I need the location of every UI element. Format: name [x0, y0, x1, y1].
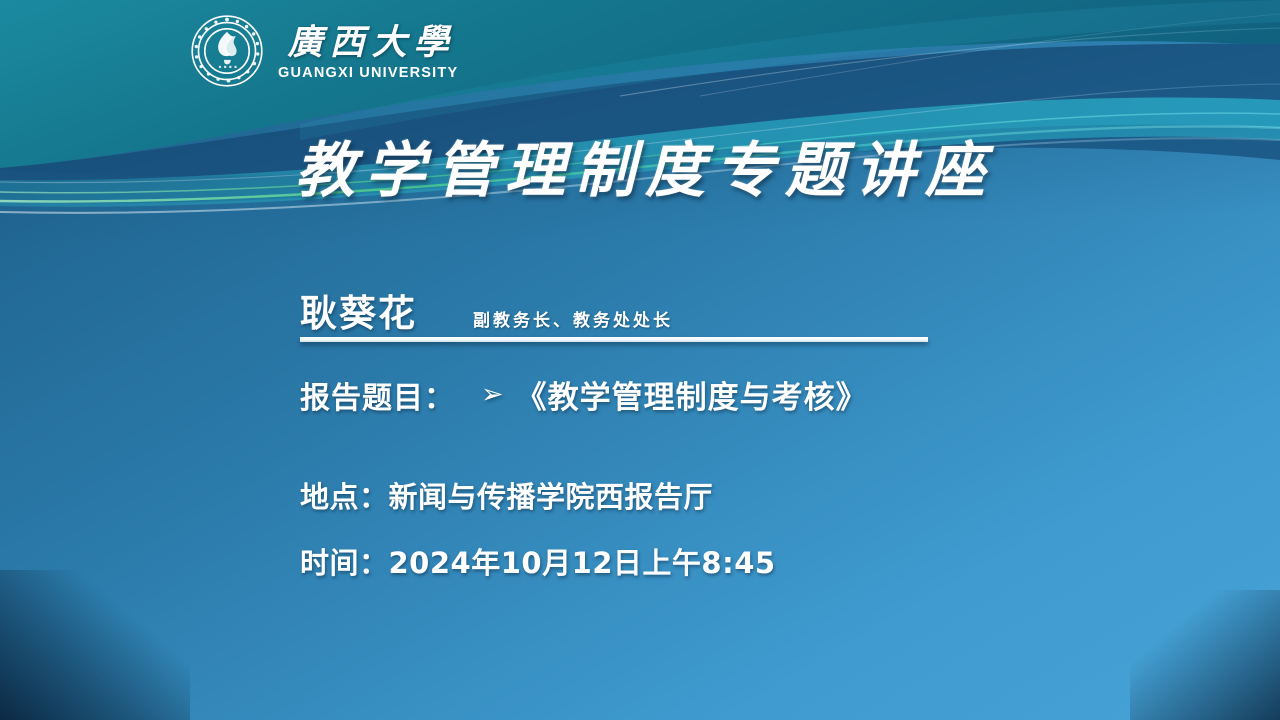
time-line: 时间：2024年10月12日上午8:45: [300, 540, 776, 582]
topic-line: 报告题目： ➢ 《教学管理制度与考核》: [300, 372, 868, 417]
speaker-row: 耿葵花 副教务长、教务处处长: [300, 283, 928, 337]
speaker-name: 耿葵花: [300, 283, 417, 337]
university-seal-icon: [190, 14, 264, 88]
title-container: 教学管理制度专题讲座: [0, 140, 1280, 203]
university-logo: 廣西大學 GUANGXI UNIVERSITY: [190, 14, 458, 88]
speaker-role: 副教务长、教务处处长: [473, 306, 673, 331]
arrow-bullet-icon: ➢: [481, 381, 504, 408]
corner-accent-bottom-right: [1130, 590, 1280, 720]
topic-label: 报告题目：: [300, 373, 455, 417]
page-title: 教学管理制度专题讲座: [0, 140, 1280, 203]
corner-accent-bottom-left: [0, 570, 190, 720]
topic-value: 《教学管理制度与考核》: [516, 372, 868, 417]
place-line: 地点：新闻与传播学院西报告厅: [300, 474, 713, 516]
logo-name-en: GUANGXI UNIVERSITY: [278, 65, 458, 81]
background-wave-decoration: [0, 0, 1280, 720]
divider-rule: [300, 337, 928, 342]
presentation-slide: 廣西大學 GUANGXI UNIVERSITY 教学管理制度专题讲座 耿葵花 副…: [0, 0, 1280, 720]
logo-text: 廣西大學 GUANGXI UNIVERSITY: [278, 23, 458, 81]
logo-name-cn: 廣西大學: [281, 23, 456, 63]
